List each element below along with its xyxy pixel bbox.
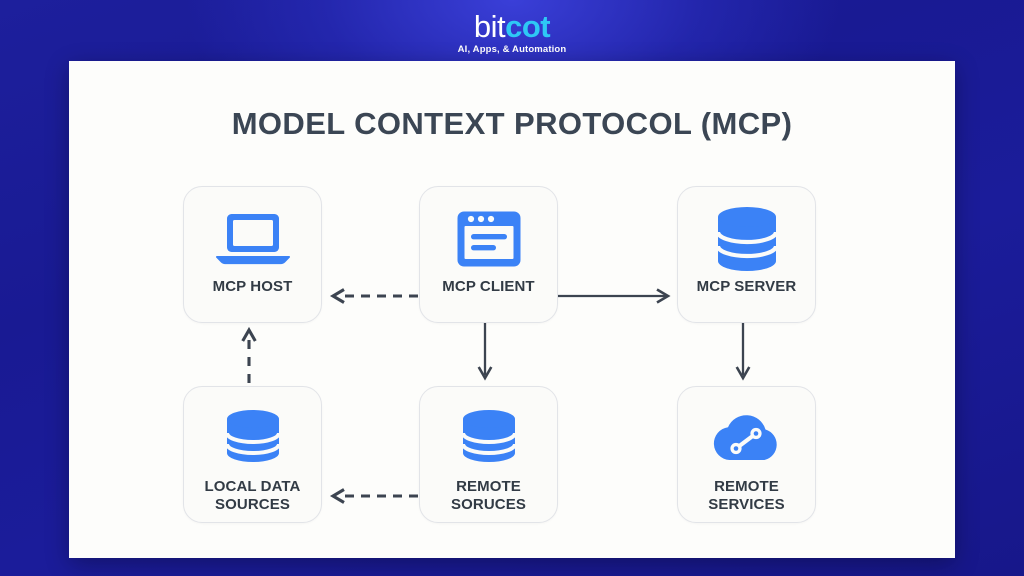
mcp-architecture-diagram: MCP HOST MCP CLIENT bbox=[69, 61, 955, 558]
node-label-line2: SORUCES bbox=[451, 496, 526, 513]
slide-canvas: bitcot AI, Apps, & Automation MODEL CONT… bbox=[0, 0, 1024, 576]
connector-client-to-server bbox=[558, 289, 676, 303]
database-icon bbox=[461, 404, 517, 470]
node-label: MCP HOST bbox=[213, 278, 293, 296]
node-remote-services[interactable]: REMOTESERVICES bbox=[677, 386, 816, 523]
content-panel: MODEL CONTEXT PROTOCOL (MCP) bbox=[69, 61, 955, 558]
node-label: MCP CLIENT bbox=[442, 278, 534, 296]
brand-logo: bitcot AI, Apps, & Automation bbox=[0, 11, 1024, 55]
connector-client-to-host bbox=[322, 289, 420, 303]
connector-remote-sources-to-local bbox=[322, 489, 420, 503]
database-icon bbox=[716, 206, 778, 272]
laptop-icon bbox=[214, 206, 292, 272]
node-label: MCP SERVER bbox=[697, 278, 797, 296]
cloud-link-icon bbox=[711, 404, 783, 470]
connector-client-to-remote-sources bbox=[478, 323, 492, 385]
connector-server-to-services bbox=[736, 323, 750, 385]
node-label-line1: LOCAL DATA bbox=[205, 478, 301, 495]
brand-tagline: AI, Apps, & Automation bbox=[0, 44, 1024, 55]
node-label: REMOTESORUCES bbox=[451, 478, 526, 515]
node-label: REMOTESERVICES bbox=[708, 478, 784, 515]
node-mcp-server[interactable]: MCP SERVER bbox=[677, 186, 816, 323]
node-remote-sources[interactable]: REMOTESORUCES bbox=[419, 386, 558, 523]
node-mcp-client[interactable]: MCP CLIENT bbox=[419, 186, 558, 323]
database-icon bbox=[225, 404, 281, 470]
node-local-data-sources[interactable]: LOCAL DATASOURCES bbox=[183, 386, 322, 523]
node-label-line2: SERVICES bbox=[708, 496, 784, 513]
browser-window-icon bbox=[456, 206, 522, 272]
node-label: LOCAL DATASOURCES bbox=[205, 478, 301, 515]
connector-local-to-host bbox=[242, 323, 256, 385]
node-label-line1: REMOTE bbox=[714, 478, 779, 495]
node-mcp-host[interactable]: MCP HOST bbox=[183, 186, 322, 323]
brand-name-part1: bit bbox=[474, 9, 505, 44]
node-label-line1: REMOTE bbox=[456, 478, 521, 495]
node-label-line2: SOURCES bbox=[215, 496, 290, 513]
brand-wordmark: bitcot bbox=[0, 11, 1024, 43]
brand-name-part2: cot bbox=[505, 9, 550, 44]
